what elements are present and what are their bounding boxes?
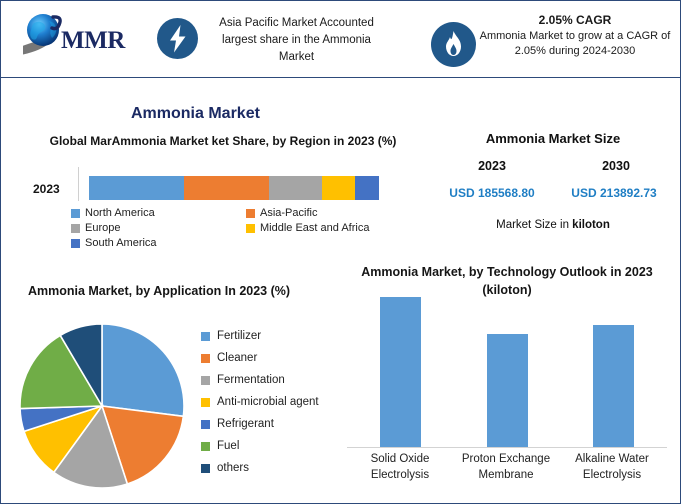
region-legend-label: Asia-Pacific xyxy=(260,207,317,219)
legend-swatch-icon xyxy=(201,376,210,385)
application-legend-item: Cleaner xyxy=(201,347,319,369)
application-legend-label: Fermentation xyxy=(217,374,285,386)
header-bar: MMR Asia Pacific Market Accounted larges… xyxy=(1,1,680,78)
market-size-value-2030: USD 213892.73 xyxy=(555,186,673,200)
application-legend-item: Anti-microbial agent xyxy=(201,391,319,413)
stacked-bar-segment xyxy=(89,176,184,200)
region-chart-title: Global MarAmmonia Market ket Share, by R… xyxy=(23,133,423,150)
stacked-bar xyxy=(89,176,379,200)
application-legend-label: Cleaner xyxy=(217,352,257,364)
infographic-canvas: MMR Asia Pacific Market Accounted larges… xyxy=(0,0,681,504)
region-legend-label: Europe xyxy=(85,222,120,234)
stacked-bar-segment xyxy=(355,176,378,200)
technology-x-label: Alkaline Water Electrolysis xyxy=(559,451,665,483)
technology-bar xyxy=(593,325,634,447)
application-legend-label: Anti-microbial agent xyxy=(217,396,319,408)
legend-swatch-icon xyxy=(201,442,210,451)
market-size-unit-prefix: Market Size in xyxy=(496,219,572,231)
cagr-description: Ammonia Market to grow at a CAGR of 2.05… xyxy=(480,30,671,57)
application-legend-item: others xyxy=(201,457,319,479)
market-size-year-2023: 2023 xyxy=(437,159,547,173)
pie-slice xyxy=(102,324,184,416)
pie-svg xyxy=(19,323,185,489)
region-plot-area xyxy=(78,167,381,201)
cagr-headline: 2.05% CAGR xyxy=(479,13,671,28)
application-legend-label: others xyxy=(217,462,249,474)
header-cagr-text: 2.05% CAGR Ammonia Market to grow at a C… xyxy=(479,13,671,59)
application-legend-item: Refrigerant xyxy=(201,413,319,435)
region-legend-item: Europe xyxy=(71,222,246,234)
technology-x-label: Proton Exchange Membrane xyxy=(453,451,559,483)
lightning-bolt-icon xyxy=(157,18,198,59)
region-axis-label: 2023 xyxy=(33,182,60,196)
legend-swatch-icon xyxy=(201,420,210,429)
application-legend: FertilizerCleanerFermentationAnti-microb… xyxy=(201,325,319,479)
application-legend-label: Refrigerant xyxy=(217,418,274,430)
technology-outlook-chart: Ammonia Market, by Technology Outlook in… xyxy=(341,263,673,503)
region-legend-item: North America xyxy=(71,207,246,219)
logo-wordmark: MMR xyxy=(61,27,125,55)
legend-swatch-icon xyxy=(71,209,80,218)
stacked-bar-segment xyxy=(322,176,356,200)
legend-swatch-icon xyxy=(71,224,80,233)
flame-icon xyxy=(431,22,476,67)
market-size-value-2023: USD 185568.80 xyxy=(433,186,551,200)
market-size-unit-value: kiloton xyxy=(572,219,610,231)
market-size-year-2030: 2030 xyxy=(561,159,671,173)
application-chart-title: Ammonia Market, by Application In 2023 (… xyxy=(19,283,299,300)
market-size-title: Ammonia Market Size xyxy=(433,131,673,146)
pie-chart xyxy=(19,323,185,489)
application-share-chart: Ammonia Market, by Application In 2023 (… xyxy=(9,283,349,498)
region-legend-item: South America xyxy=(71,237,246,249)
technology-x-axis-labels: Solid Oxide ElectrolysisProton Exchange … xyxy=(347,451,667,483)
legend-swatch-icon xyxy=(246,209,255,218)
legend-swatch-icon xyxy=(246,224,255,233)
region-legend-label: North America xyxy=(85,207,155,219)
region-legend-label: Middle East and Africa xyxy=(260,222,369,234)
application-legend-label: Fertilizer xyxy=(217,330,261,342)
legend-swatch-icon xyxy=(201,354,210,363)
application-legend-item: Fertilizer xyxy=(201,325,319,347)
market-size-unit: Market Size in kiloton xyxy=(433,219,673,231)
region-legend: North AmericaAsia-PacificEuropeMiddle Ea… xyxy=(71,207,421,252)
stacked-bar-segment xyxy=(269,176,321,200)
technology-x-label: Solid Oxide Electrolysis xyxy=(347,451,453,483)
application-legend-item: Fermentation xyxy=(201,369,319,391)
legend-swatch-icon xyxy=(201,332,210,341)
technology-plot-area xyxy=(347,291,667,448)
legend-swatch-icon xyxy=(201,398,210,407)
application-legend-item: Fuel xyxy=(201,435,319,457)
technology-bar xyxy=(487,334,528,447)
market-size-panel: Ammonia Market Size 2023 2030 USD 185568… xyxy=(433,131,673,251)
stacked-bar-segment xyxy=(184,176,269,200)
region-share-chart: Global MarAmmonia Market ket Share, by R… xyxy=(11,133,431,273)
region-legend-item: Middle East and Africa xyxy=(246,222,421,234)
region-legend-item: Asia-Pacific xyxy=(246,207,421,219)
legend-swatch-icon xyxy=(201,464,210,473)
application-legend-label: Fuel xyxy=(217,440,239,452)
region-legend-label: South America xyxy=(85,237,157,249)
brand-logo[interactable]: MMR xyxy=(13,7,143,65)
page-title: Ammonia Market xyxy=(131,105,260,123)
legend-swatch-icon xyxy=(71,239,80,248)
technology-bar xyxy=(380,297,421,447)
header-highlight-text: Asia Pacific Market Accounted largest sh… xyxy=(204,15,389,66)
